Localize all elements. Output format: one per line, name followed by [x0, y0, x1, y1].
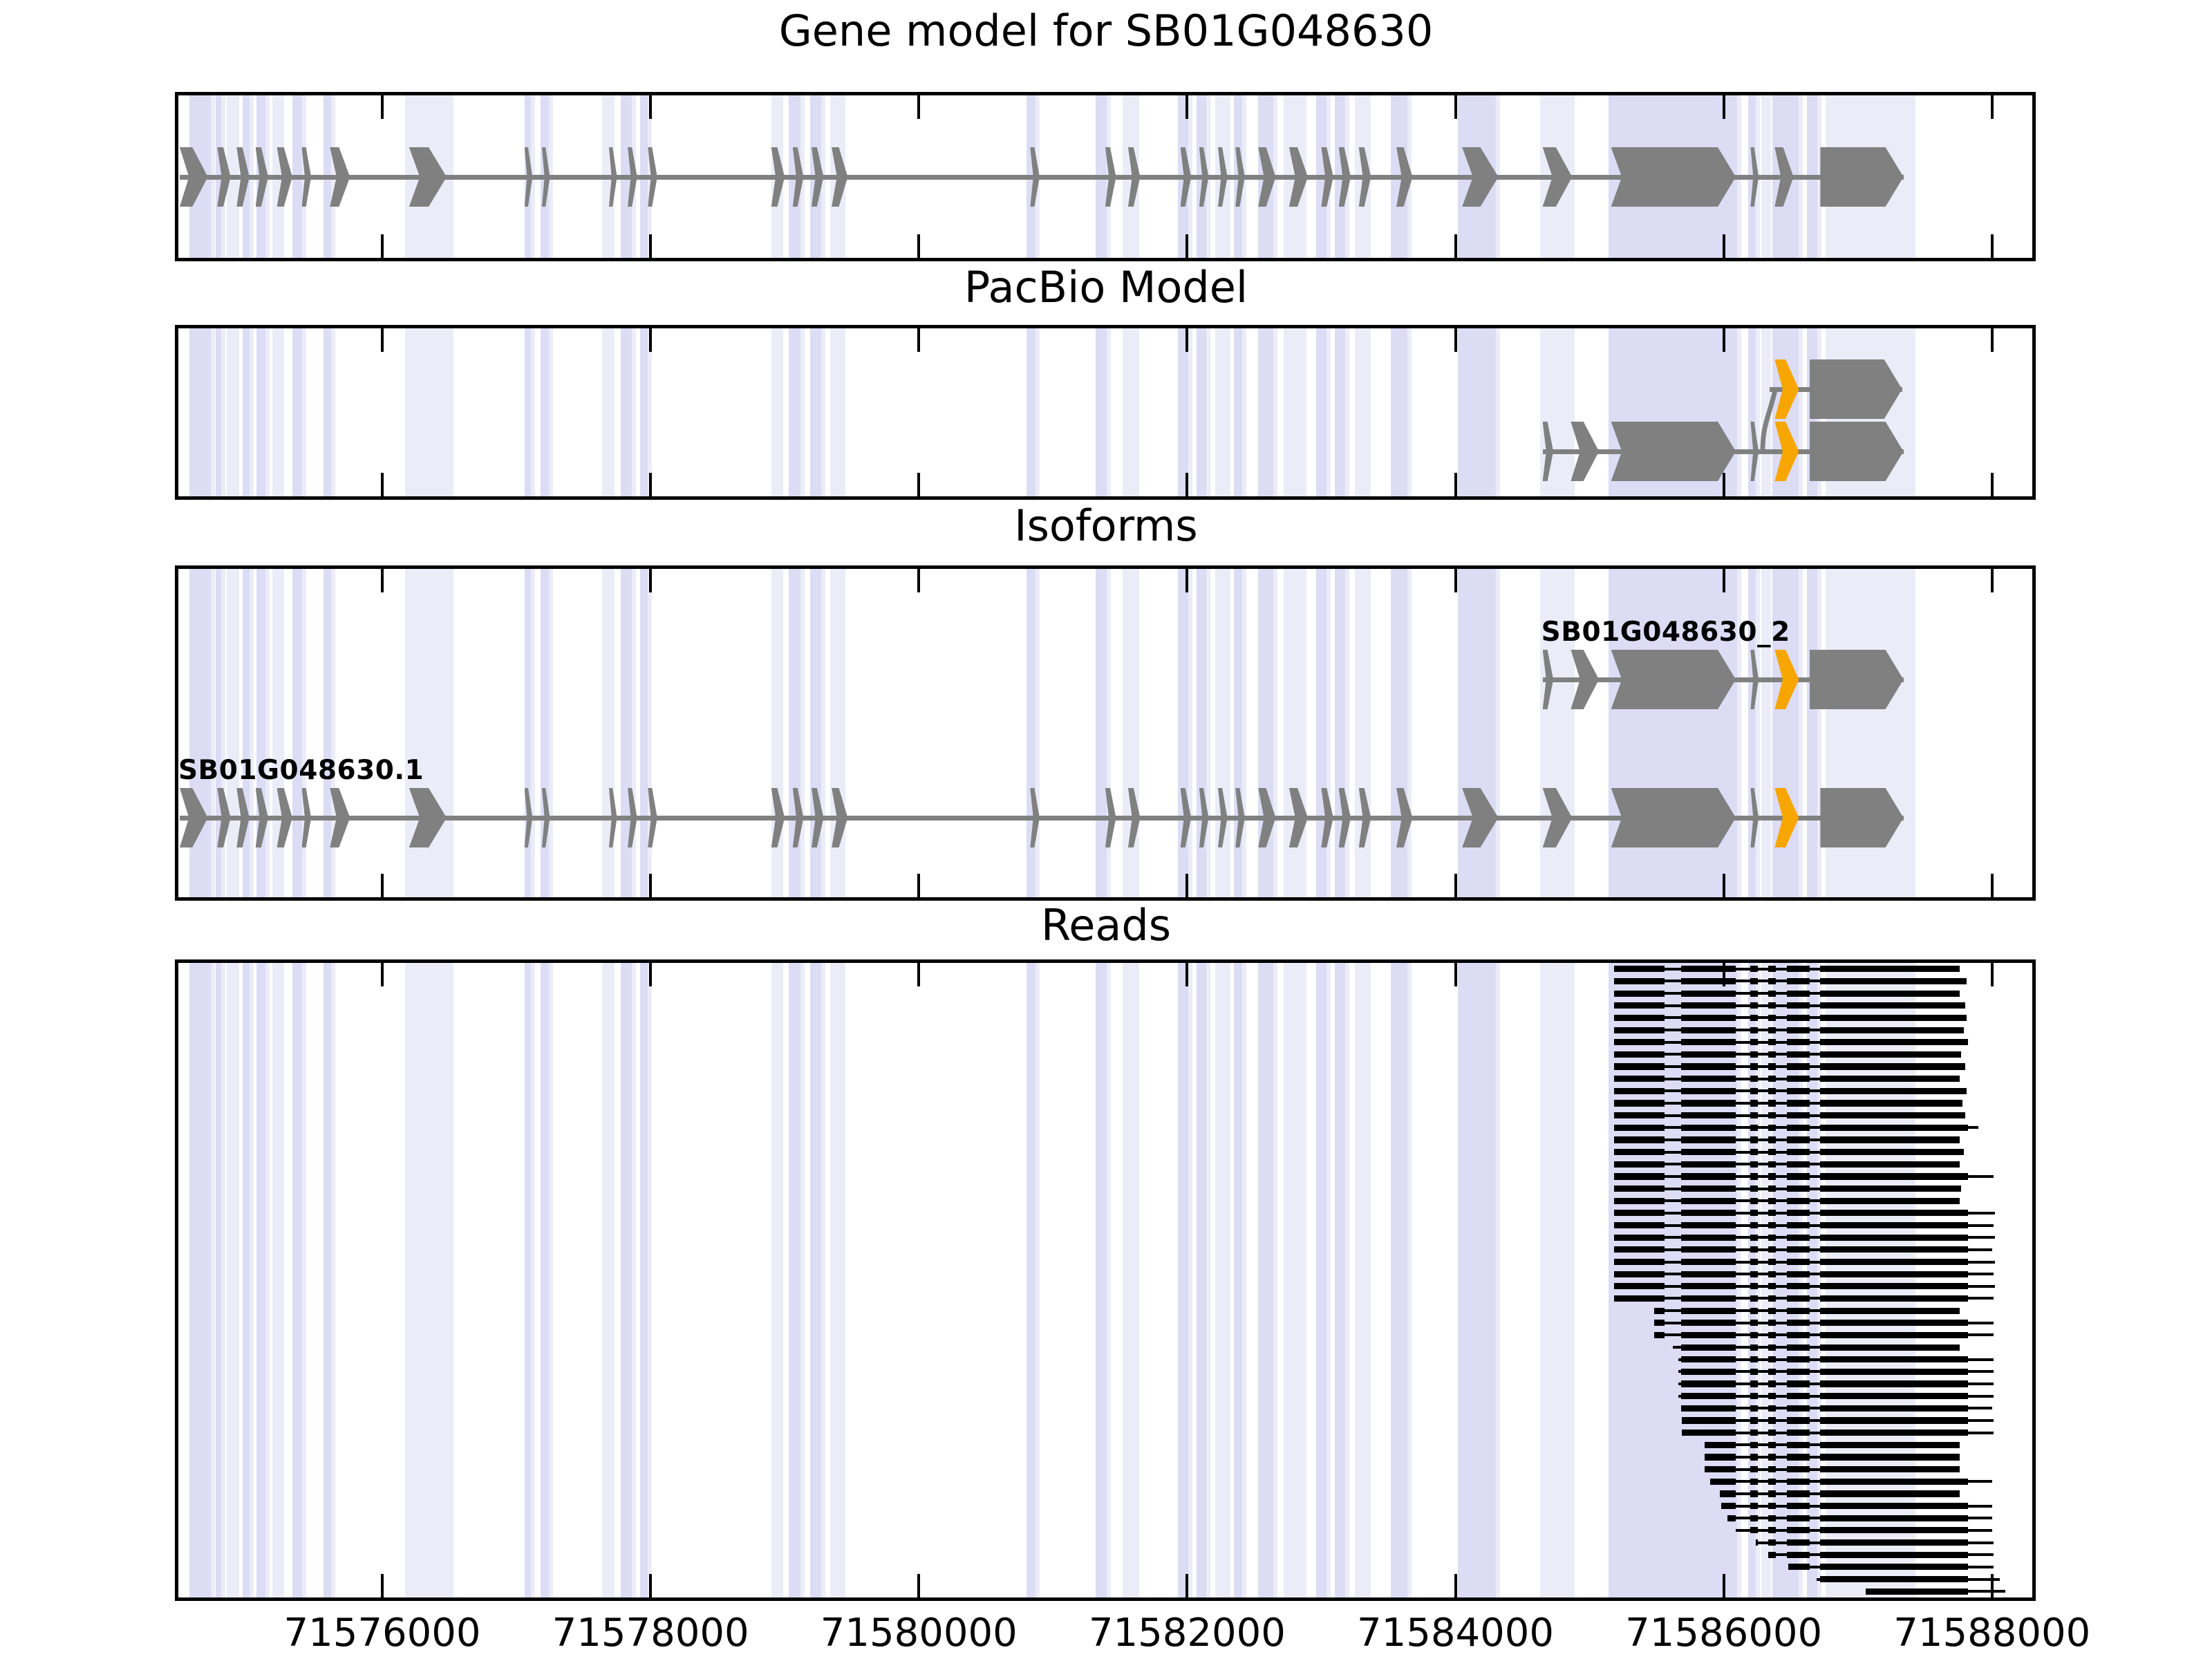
read-block[interactable] — [1768, 1076, 1777, 1082]
read-block[interactable] — [1820, 1136, 1960, 1143]
read-block[interactable] — [1768, 1173, 1777, 1179]
read-block[interactable] — [1614, 1161, 1665, 1168]
read-block[interactable] — [1787, 1015, 1810, 1021]
read-block[interactable] — [1787, 1515, 1810, 1521]
read-block[interactable] — [1750, 1417, 1758, 1423]
highlight-band — [771, 963, 780, 1597]
read-block[interactable] — [1768, 1515, 1777, 1521]
read-block[interactable] — [1654, 1308, 1665, 1314]
read-block[interactable] — [1681, 1283, 1736, 1289]
highlight-band — [1540, 963, 1571, 1597]
read-block[interactable] — [1820, 1295, 1967, 1302]
read-block[interactable] — [1654, 1320, 1665, 1326]
read-block[interactable] — [1820, 1027, 1964, 1033]
read-block[interactable] — [1750, 1295, 1758, 1302]
read-block[interactable] — [1750, 1076, 1758, 1082]
read-block[interactable] — [1820, 1332, 1967, 1338]
highlight-band-edge — [211, 963, 215, 1597]
read-block[interactable] — [1768, 1210, 1777, 1216]
read-block[interactable] — [1750, 1100, 1758, 1106]
read-block[interactable] — [1866, 1588, 1967, 1595]
read-block[interactable] — [1768, 1112, 1777, 1118]
read-block[interactable] — [1820, 1002, 1965, 1009]
read-block[interactable] — [1787, 1149, 1810, 1155]
read-block[interactable] — [1614, 1246, 1665, 1253]
read-block[interactable] — [1750, 1235, 1758, 1241]
exon[interactable] — [1611, 788, 1736, 847]
highlight-band — [1316, 569, 1327, 897]
read-block[interactable] — [1787, 1051, 1810, 1058]
read-block[interactable] — [1750, 1356, 1758, 1362]
read-block[interactable] — [1787, 1125, 1810, 1131]
read-block[interactable] — [1820, 1564, 1967, 1570]
read-block[interactable] — [1614, 991, 1665, 997]
read-block[interactable] — [1681, 1259, 1736, 1265]
axis-tick — [1723, 569, 1725, 592]
read-block[interactable] — [1820, 1161, 1960, 1168]
read-block[interactable] — [1750, 1454, 1758, 1460]
read-block[interactable] — [1820, 1271, 1967, 1277]
read-block[interactable] — [1614, 1210, 1665, 1216]
read-block[interactable] — [1614, 966, 1665, 972]
read-block[interactable] — [1681, 991, 1736, 997]
read-block[interactable] — [1820, 1479, 1967, 1485]
read-block[interactable] — [1682, 1430, 1736, 1436]
read-block[interactable] — [1787, 1442, 1810, 1448]
read-block[interactable] — [1768, 1100, 1777, 1106]
read-block[interactable] — [1681, 1125, 1736, 1131]
read-block[interactable] — [1787, 1295, 1810, 1302]
read-block[interactable] — [1820, 1503, 1967, 1509]
read-block[interactable] — [1788, 1564, 1810, 1570]
read-block[interactable] — [1787, 1259, 1810, 1265]
axis-tick — [1185, 874, 1188, 897]
read-block[interactable] — [1787, 1430, 1810, 1436]
read-block[interactable] — [1787, 966, 1810, 972]
read-block[interactable] — [1720, 1490, 1736, 1497]
read-block[interactable] — [1681, 966, 1736, 972]
read-block[interactable] — [1681, 1222, 1736, 1228]
read-block[interactable] — [1787, 1332, 1810, 1338]
read-block[interactable] — [1681, 1149, 1736, 1155]
read-block[interactable] — [1820, 1235, 1967, 1241]
highlight-band-edge — [549, 569, 553, 897]
read-block[interactable] — [1750, 1527, 1758, 1533]
read-block[interactable] — [1681, 1332, 1736, 1338]
read-block[interactable] — [1756, 1539, 1758, 1546]
read-block[interactable] — [1820, 1454, 1960, 1460]
read-block[interactable] — [1768, 1308, 1777, 1314]
read-block[interactable] — [1681, 1112, 1736, 1118]
read-block[interactable] — [1820, 1222, 1967, 1228]
read-block[interactable] — [1681, 1235, 1736, 1241]
read-block[interactable] — [1750, 1051, 1758, 1058]
read-block[interactable] — [1768, 1393, 1777, 1399]
read-block[interactable] — [1768, 1283, 1777, 1289]
read-block[interactable] — [1787, 1356, 1810, 1362]
read-block[interactable] — [1820, 1039, 1967, 1045]
read-block[interactable] — [1768, 966, 1777, 972]
read-block[interactable] — [1614, 1063, 1665, 1069]
read-block[interactable] — [1787, 1393, 1810, 1399]
read-block[interactable] — [1750, 1466, 1758, 1472]
read-block[interactable] — [1768, 1527, 1777, 1533]
read-block[interactable] — [1750, 1490, 1758, 1497]
axes-pacbio-model[interactable] — [175, 325, 2036, 500]
read-block[interactable] — [1787, 1539, 1810, 1546]
read-block[interactable] — [1787, 1027, 1810, 1033]
read-block[interactable] — [1787, 1161, 1810, 1168]
read-block[interactable] — [1820, 1149, 1964, 1155]
read-block[interactable] — [1787, 1173, 1810, 1179]
read-block[interactable] — [1682, 1417, 1736, 1423]
read-block[interactable] — [1614, 1271, 1665, 1277]
read-block[interactable] — [1768, 1344, 1777, 1351]
read-block[interactable] — [1750, 1283, 1758, 1289]
read-block[interactable] — [1820, 1430, 1967, 1436]
read-block[interactable] — [1614, 1002, 1665, 1009]
read-block[interactable] — [1787, 1344, 1810, 1351]
read-block[interactable] — [1750, 1173, 1758, 1179]
read-block[interactable] — [1681, 1100, 1736, 1106]
read-block[interactable] — [1681, 1088, 1736, 1094]
read-block[interactable] — [1820, 1173, 1967, 1179]
read-block[interactable] — [1820, 1015, 1967, 1021]
read-block[interactable] — [1787, 1320, 1810, 1326]
read-block[interactable] — [1768, 1503, 1777, 1509]
exon[interactable] — [1611, 147, 1736, 207]
read-block[interactable] — [1681, 1015, 1736, 1021]
read-block[interactable] — [1750, 966, 1758, 972]
read-block[interactable] — [1614, 1088, 1665, 1094]
read-block[interactable] — [1787, 1002, 1810, 1009]
read-block[interactable] — [1820, 1490, 1960, 1497]
read-block[interactable] — [1768, 1466, 1777, 1472]
read-block[interactable] — [1768, 1490, 1777, 1497]
read-block[interactable] — [1768, 1454, 1777, 1460]
read-block[interactable] — [1820, 1246, 1967, 1253]
read-block[interactable] — [1768, 1039, 1777, 1045]
read-block[interactable] — [1750, 1271, 1758, 1277]
read-block[interactable] — [1768, 1185, 1777, 1192]
read-block[interactable] — [1681, 1271, 1736, 1277]
read-block[interactable] — [1787, 1112, 1810, 1118]
read-block[interactable] — [1787, 1039, 1810, 1045]
read-block[interactable] — [1768, 1222, 1777, 1228]
read-block[interactable] — [1750, 1344, 1758, 1351]
exon[interactable] — [1611, 650, 1736, 709]
axes-isoforms[interactable]: SB01G048630_2SB01G048630.1 — [175, 565, 2036, 901]
read-block[interactable] — [1681, 1039, 1736, 1045]
read-block[interactable] — [1750, 1088, 1758, 1094]
read-block[interactable] — [1820, 1063, 1965, 1069]
read-block[interactable] — [1787, 1222, 1810, 1228]
read-block[interactable] — [1820, 1515, 1967, 1521]
read-block[interactable] — [1820, 1380, 1967, 1387]
read-block[interactable] — [1820, 1552, 1967, 1558]
read-block[interactable] — [1681, 1320, 1736, 1326]
read-block[interactable] — [1768, 1356, 1777, 1362]
read-block[interactable] — [1820, 1185, 1961, 1192]
read-block[interactable] — [1820, 1393, 1967, 1399]
axes-gene-model[interactable] — [175, 92, 2036, 261]
read-block[interactable] — [1705, 1454, 1736, 1460]
read-block[interactable] — [1820, 1051, 1961, 1058]
read-block[interactable] — [1721, 1503, 1736, 1509]
read-block[interactable] — [1750, 1308, 1758, 1314]
read-block[interactable] — [1614, 1173, 1665, 1179]
read-block[interactable] — [1787, 1088, 1810, 1094]
read-block[interactable] — [1768, 1271, 1777, 1277]
read-block[interactable] — [1750, 1259, 1758, 1265]
read-block[interactable] — [1787, 1136, 1810, 1143]
read-block[interactable] — [1750, 1320, 1758, 1326]
read-block[interactable] — [1614, 1198, 1665, 1204]
read-block[interactable] — [1820, 1283, 1967, 1289]
read-block[interactable] — [1614, 1027, 1665, 1033]
read-block[interactable] — [1750, 1039, 1758, 1045]
read-block[interactable] — [1654, 1332, 1665, 1338]
read-block[interactable] — [1768, 1479, 1777, 1485]
read-block[interactable] — [1768, 1002, 1777, 1009]
read-block[interactable] — [1614, 1235, 1665, 1241]
read-block[interactable] — [1768, 1320, 1777, 1326]
read-block[interactable] — [1787, 1271, 1810, 1277]
read-block[interactable] — [1820, 1308, 1960, 1314]
read-block[interactable] — [1787, 1283, 1810, 1289]
read-block[interactable] — [1681, 1380, 1736, 1387]
read-block[interactable] — [1705, 1442, 1736, 1448]
read-block[interactable] — [1768, 1051, 1777, 1058]
read-block[interactable] — [1681, 1027, 1736, 1033]
read-block[interactable] — [1787, 1454, 1810, 1460]
read-block[interactable] — [1768, 1405, 1777, 1412]
read-block[interactable] — [1750, 1002, 1758, 1009]
read-block[interactable] — [1768, 1015, 1777, 1021]
read-block[interactable] — [1787, 1100, 1810, 1106]
read-block[interactable] — [1820, 1527, 1967, 1533]
read-block[interactable] — [1787, 1063, 1810, 1069]
read-block[interactable] — [1787, 978, 1810, 984]
read-block[interactable] — [1614, 1051, 1665, 1058]
read-block[interactable] — [1820, 1369, 1967, 1375]
read-block[interactable] — [1681, 1344, 1736, 1351]
read-block[interactable] — [1787, 1198, 1810, 1204]
panel-title-reads: Reads — [0, 904, 2212, 947]
read-block[interactable] — [1768, 991, 1777, 997]
read-block[interactable] — [1614, 1039, 1665, 1045]
read-block[interactable] — [1750, 1112, 1758, 1118]
read-block[interactable] — [1768, 1125, 1777, 1131]
read-block[interactable] — [1820, 1405, 1967, 1412]
read-block[interactable] — [1768, 1063, 1777, 1069]
read-block[interactable] — [1750, 1442, 1758, 1448]
read-block[interactable] — [1681, 1295, 1736, 1302]
read-block[interactable] — [1787, 991, 1810, 997]
read-block[interactable] — [1750, 1405, 1758, 1412]
read-block[interactable] — [1681, 1063, 1736, 1069]
read-block[interactable] — [1820, 1112, 1965, 1118]
read-block[interactable] — [1820, 966, 1960, 972]
highlight-band-edge — [1407, 569, 1412, 897]
read-block[interactable] — [1681, 1173, 1736, 1179]
read-block[interactable] — [1750, 991, 1758, 997]
read-block[interactable] — [1787, 1235, 1810, 1241]
read-block[interactable] — [1820, 1259, 1967, 1265]
read-block[interactable] — [1820, 1076, 1960, 1082]
read-block[interactable] — [1787, 1308, 1810, 1314]
read-block[interactable] — [1681, 978, 1736, 984]
read-block[interactable] — [1787, 1552, 1810, 1558]
read-block[interactable] — [1681, 1051, 1736, 1058]
read-block[interactable] — [1768, 978, 1777, 984]
read-block[interactable] — [1750, 1246, 1758, 1253]
read-block[interactable] — [1768, 1369, 1777, 1375]
read-block[interactable] — [1614, 1283, 1665, 1289]
read-block[interactable] — [1768, 1027, 1777, 1033]
read-block[interactable] — [1820, 1539, 1967, 1546]
read-block[interactable] — [1750, 1063, 1758, 1069]
read-block[interactable] — [1614, 1100, 1665, 1106]
highlight-band-edge — [1242, 569, 1246, 897]
read-block[interactable] — [1750, 1027, 1758, 1033]
read-block[interactable] — [1750, 1380, 1758, 1387]
read-block[interactable] — [1768, 1088, 1777, 1094]
read-block[interactable] — [1787, 1076, 1810, 1082]
axis-tick — [381, 963, 384, 986]
read-block[interactable] — [1614, 1185, 1665, 1192]
read-block[interactable] — [1681, 1246, 1736, 1253]
read-block[interactable] — [1768, 1442, 1777, 1448]
read-block[interactable] — [1614, 1222, 1665, 1228]
read-block[interactable] — [1750, 1515, 1758, 1521]
read-block[interactable] — [1820, 1442, 1960, 1448]
read-block[interactable] — [1681, 1185, 1736, 1192]
read-block[interactable] — [1681, 1356, 1736, 1362]
read-block[interactable] — [1750, 1222, 1758, 1228]
read-block[interactable] — [1787, 1490, 1810, 1497]
read-block[interactable] — [1768, 1149, 1777, 1155]
read-block[interactable] — [1820, 1356, 1967, 1362]
read-block[interactable] — [1681, 1393, 1736, 1399]
read-block[interactable] — [1750, 1149, 1758, 1155]
read-block[interactable] — [1681, 1161, 1736, 1168]
read-block[interactable] — [1614, 1076, 1665, 1082]
read-block[interactable] — [1750, 1430, 1758, 1436]
read-block[interactable] — [1820, 1417, 1967, 1423]
axis-tick — [381, 1574, 384, 1597]
read-block[interactable] — [1681, 1210, 1736, 1216]
read-block[interactable] — [1787, 1503, 1810, 1509]
read-block[interactable] — [1820, 1125, 1967, 1131]
read-block[interactable] — [1768, 1295, 1777, 1302]
read-block[interactable] — [1820, 1576, 1967, 1582]
read-block[interactable] — [1614, 1149, 1665, 1155]
read-block[interactable] — [1768, 1539, 1777, 1546]
read-block[interactable] — [1681, 1076, 1736, 1082]
axes-reads[interactable] — [175, 959, 2036, 1601]
read-block[interactable] — [1768, 1246, 1777, 1253]
read-block[interactable] — [1787, 1527, 1810, 1533]
read-block[interactable] — [1750, 1185, 1758, 1192]
read-block[interactable] — [1787, 1185, 1810, 1192]
read-block[interactable] — [1750, 1161, 1758, 1168]
read-block[interactable] — [1750, 1503, 1758, 1509]
read-block[interactable] — [1750, 1393, 1758, 1399]
read-block[interactable] — [1727, 1515, 1736, 1521]
read-block[interactable] — [1820, 1100, 1962, 1106]
read-block[interactable] — [1681, 1002, 1736, 1009]
read-block[interactable] — [1750, 978, 1758, 984]
read-block[interactable] — [1787, 1466, 1810, 1472]
exon[interactable] — [1810, 650, 1904, 709]
read-block[interactable] — [1750, 1332, 1758, 1338]
read-block[interactable] — [1820, 1320, 1967, 1326]
read-block[interactable] — [1820, 1088, 1967, 1094]
axis-tick — [1185, 569, 1188, 592]
read-block[interactable] — [1768, 1430, 1777, 1436]
read-block[interactable] — [1820, 978, 1967, 984]
read-block[interactable] — [1710, 1479, 1736, 1485]
read-block[interactable] — [1787, 1369, 1810, 1375]
read-block[interactable] — [1750, 1125, 1758, 1131]
read-block[interactable] — [1614, 1015, 1665, 1021]
axis-tick — [1723, 1574, 1725, 1597]
read-block[interactable] — [1750, 1136, 1758, 1143]
read-block[interactable] — [1614, 1259, 1665, 1265]
read-block[interactable] — [1750, 1479, 1758, 1485]
read-block[interactable] — [1750, 1210, 1758, 1216]
read-block[interactable] — [1787, 1417, 1810, 1423]
read-block[interactable] — [1614, 1136, 1665, 1143]
read-block[interactable] — [1614, 1112, 1665, 1118]
read-block[interactable] — [1681, 1136, 1736, 1143]
read-block[interactable] — [1768, 1380, 1777, 1387]
read-block[interactable] — [1750, 1015, 1758, 1021]
read-block[interactable] — [1787, 1479, 1810, 1485]
read-block[interactable] — [1750, 1198, 1758, 1204]
read-block[interactable] — [1768, 1552, 1777, 1558]
read-block[interactable] — [1820, 991, 1960, 997]
read-block[interactable] — [1820, 1198, 1960, 1204]
read-block[interactable] — [1681, 1308, 1736, 1314]
read-block[interactable] — [1820, 1466, 1960, 1472]
highlight-band — [1027, 963, 1036, 1597]
read-block[interactable] — [1614, 1125, 1665, 1131]
read-block[interactable] — [1768, 1332, 1777, 1338]
axis-tick — [917, 1574, 920, 1597]
read-block[interactable] — [1614, 978, 1665, 984]
read-block[interactable] — [1681, 1369, 1736, 1375]
read-block[interactable] — [1768, 1259, 1777, 1265]
read-block[interactable] — [1787, 1246, 1810, 1253]
read-block[interactable] — [1750, 1369, 1758, 1375]
read-block[interactable] — [1768, 1161, 1777, 1168]
read-block[interactable] — [1787, 1405, 1810, 1412]
read-block[interactable] — [1681, 1198, 1736, 1204]
read-block[interactable] — [1614, 1295, 1665, 1302]
read-block[interactable] — [1705, 1466, 1736, 1472]
read-block[interactable] — [1787, 1210, 1810, 1216]
read-block[interactable] — [1768, 1235, 1777, 1241]
read-block[interactable] — [1820, 1344, 1960, 1351]
read-block[interactable] — [1768, 1136, 1777, 1143]
read-block[interactable] — [1787, 1380, 1810, 1387]
read-block[interactable] — [1768, 1417, 1777, 1423]
read-block[interactable] — [1768, 1198, 1777, 1204]
read-block[interactable] — [1681, 1405, 1736, 1412]
read-block[interactable] — [1820, 1210, 1967, 1216]
